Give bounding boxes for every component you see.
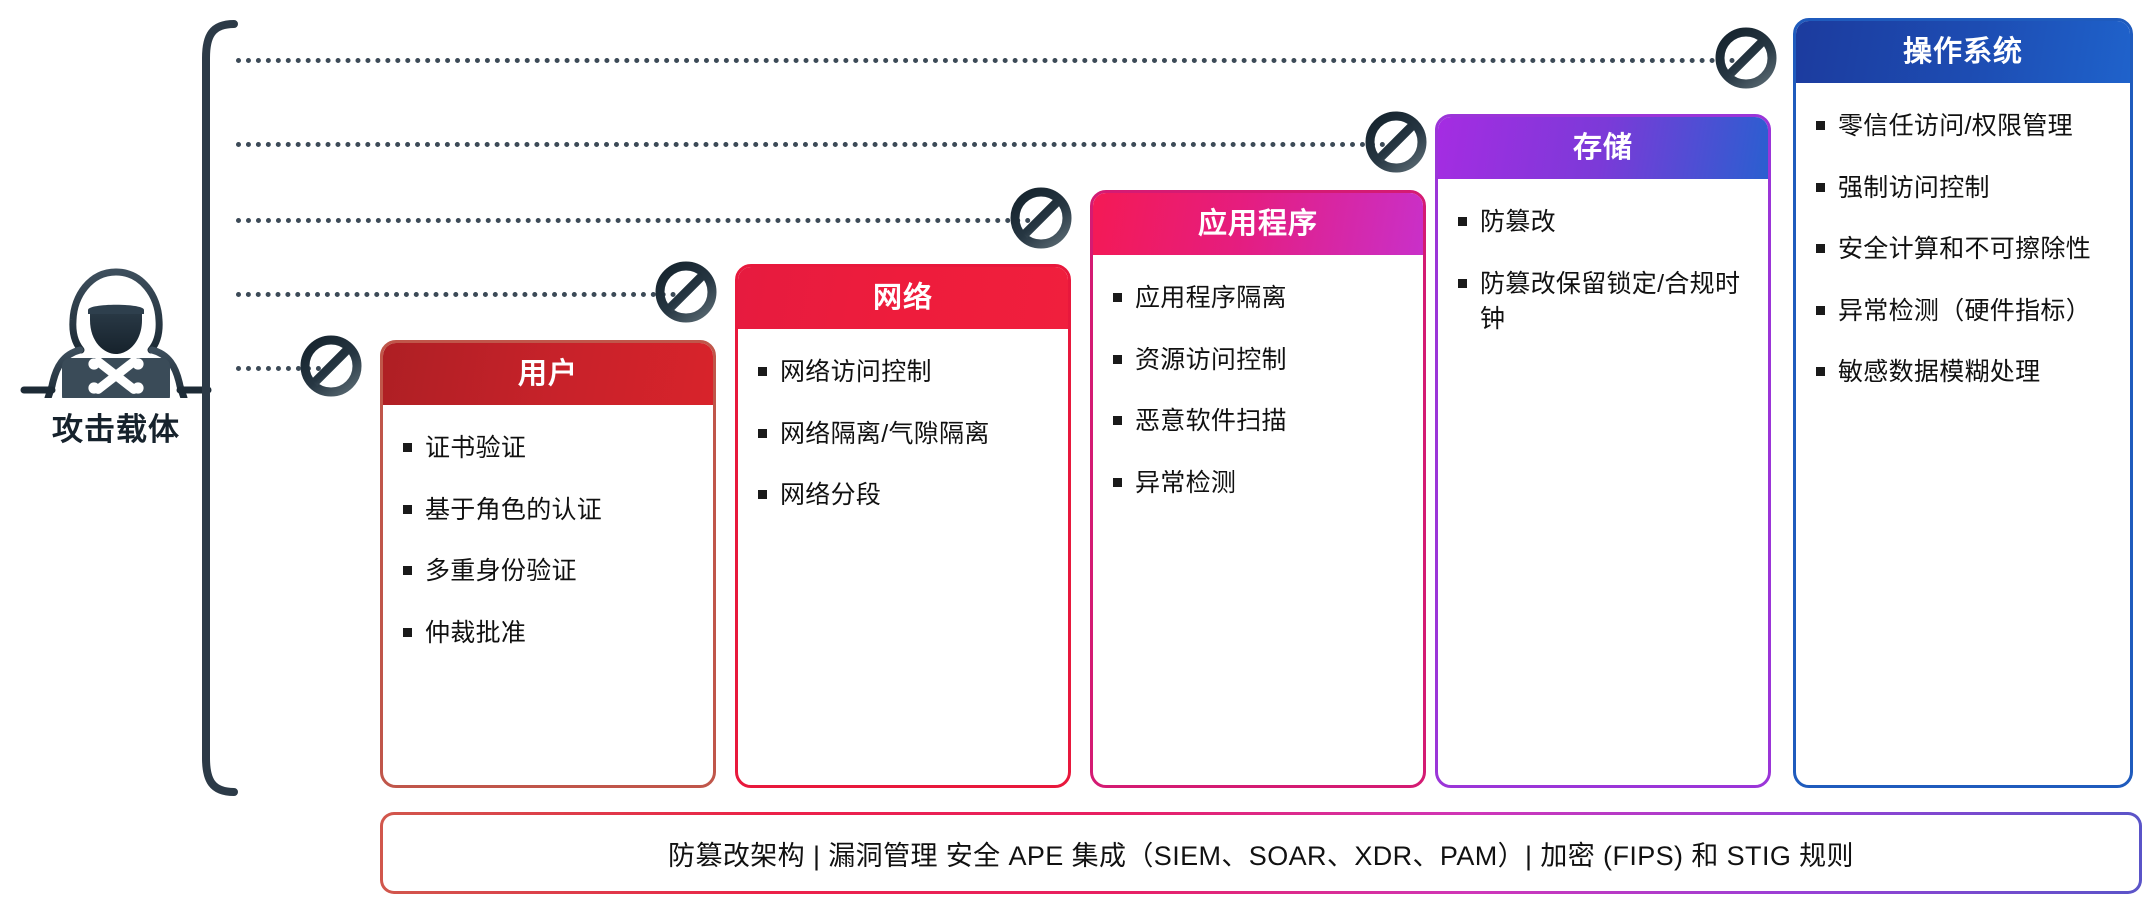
bullet-icon: [1113, 416, 1122, 425]
pillar-operating-system-list: 零信任访问/权限管理 强制访问控制 安全计算和不可擦除性 异常检测（硬件指标） …: [1796, 83, 2130, 427]
no-entry-icon-storage: [1365, 111, 1427, 173]
no-entry-icon-user: [300, 335, 362, 397]
bullet-icon: [758, 490, 767, 499]
connector-line-storage: [236, 142, 1386, 147]
no-entry-icon-os: [1715, 27, 1777, 89]
pillar-application[interactable]: 应用程序 应用程序隔离 资源访问控制 恶意软件扫描 异常检测: [1090, 190, 1426, 788]
attack-vector-group: 攻击载体: [18, 258, 214, 458]
pillar-storage[interactable]: 存储 防篡改 防篡改保留锁定/合规时钟: [1435, 114, 1771, 788]
list-item: 网络分段: [758, 478, 1052, 514]
bullet-icon: [758, 367, 767, 376]
foundation-banner: 防篡改架构 | 漏洞管理 安全 APE 集成（SIEM、SOAR、XDR、PAM…: [380, 812, 2142, 894]
pillar-operating-system[interactable]: 操作系统 零信任访问/权限管理 强制访问控制 安全计算和不可擦除性 异常检测（硬…: [1793, 18, 2133, 788]
bracket-brace: [186, 18, 240, 798]
pillar-network-title: 网络: [738, 267, 1068, 329]
bullet-icon: [758, 429, 767, 438]
list-item: 恶意软件扫描: [1113, 404, 1407, 440]
list-item: 网络隔离/气隙隔离: [758, 417, 1052, 453]
list-item: 零信任访问/权限管理: [1816, 109, 2114, 145]
pillar-user-title: 用户: [383, 343, 713, 405]
list-item: 证书验证: [403, 431, 697, 467]
pillar-operating-system-title: 操作系统: [1796, 21, 2130, 83]
list-item: 安全计算和不可擦除性: [1816, 232, 2114, 268]
bullet-icon: [1816, 183, 1825, 192]
list-item: 仲裁批准: [403, 616, 697, 652]
pillar-storage-list: 防篡改 防篡改保留锁定/合规时钟: [1438, 179, 1768, 374]
pillar-application-title: 应用程序: [1093, 193, 1423, 255]
pillar-network[interactable]: 网络 网络访问控制 网络隔离/气隙隔离 网络分段: [735, 264, 1071, 788]
foundation-banner-text: 防篡改架构 | 漏洞管理 安全 APE 集成（SIEM、SOAR、XDR、PAM…: [668, 834, 1854, 873]
pillar-user-list: 证书验证 基于角色的认证 多重身份验证 仲裁批准: [383, 405, 713, 687]
bullet-icon: [1816, 367, 1825, 376]
pillar-user[interactable]: 用户 证书验证 基于角色的认证 多重身份验证 仲裁批准: [380, 340, 716, 788]
bullet-icon: [1458, 279, 1467, 288]
list-item: 基于角色的认证: [403, 493, 697, 529]
bullet-icon: [1113, 293, 1122, 302]
security-layers-diagram: 攻击载体 用户 证书验证 基于角色的认证 多重身份验证: [0, 0, 2146, 916]
bullet-icon: [1816, 121, 1825, 130]
connector-line-os: [236, 58, 1736, 63]
bullet-icon: [403, 628, 412, 637]
bullet-icon: [1113, 355, 1122, 364]
no-entry-icon-app: [1010, 187, 1072, 249]
list-item: 网络访问控制: [758, 355, 1052, 391]
bullet-icon: [403, 566, 412, 575]
list-item: 防篡改保留锁定/合规时钟: [1458, 267, 1752, 338]
list-item: 防篡改: [1458, 205, 1752, 241]
bullet-icon: [403, 505, 412, 514]
list-item: 异常检测: [1113, 466, 1407, 502]
bullet-icon: [403, 443, 412, 452]
bullet-icon: [1458, 217, 1467, 226]
no-entry-icon-network: [655, 261, 717, 323]
list-item: 强制访问控制: [1816, 171, 2114, 207]
pillar-network-list: 网络访问控制 网络隔离/气隙隔离 网络分段: [738, 329, 1068, 550]
bullet-icon: [1816, 306, 1825, 315]
connector-line-app: [236, 218, 1031, 223]
list-item: 异常检测（硬件指标）: [1816, 294, 2114, 330]
bullet-icon: [1816, 244, 1825, 253]
list-item: 资源访问控制: [1113, 343, 1407, 379]
list-item: 应用程序隔离: [1113, 281, 1407, 317]
pillar-storage-title: 存储: [1438, 117, 1768, 179]
pillar-application-list: 应用程序隔离 资源访问控制 恶意软件扫描 异常检测: [1093, 255, 1423, 537]
list-item: 敏感数据模糊处理: [1816, 355, 2114, 391]
list-item: 多重身份验证: [403, 554, 697, 590]
hacker-icon: [18, 258, 214, 398]
connector-line-network: [236, 292, 676, 297]
attack-vector-label: 攻击载体: [18, 404, 214, 449]
bullet-icon: [1113, 478, 1122, 487]
